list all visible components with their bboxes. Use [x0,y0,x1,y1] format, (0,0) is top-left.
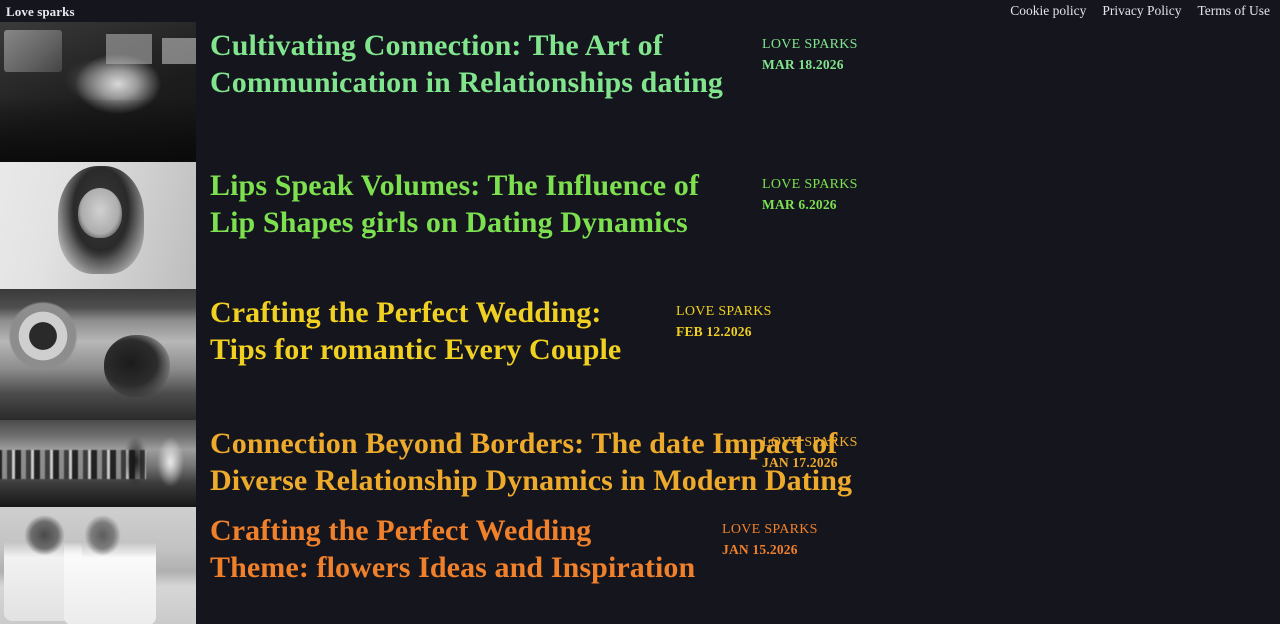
post-date: MAR 6.2026 [762,195,858,215]
post-category[interactable]: LOVE SPARKS [762,174,858,195]
post-item[interactable]: Crafting the Perfect Wedding Theme: flow… [0,507,1280,624]
post-item[interactable]: Lips Speak Volumes: The Influence of Lip… [0,162,1280,289]
post-date: FEB 12.2026 [676,322,772,342]
nav-link-cookie-policy[interactable]: Cookie policy [1010,4,1086,18]
post-list: Cultivating Connection: The Art of Commu… [0,22,1280,624]
post-thumbnail-link[interactable] [0,507,196,624]
nav-link-terms-of-use[interactable]: Terms of Use [1197,4,1270,18]
post-category[interactable]: LOVE SPARKS [676,301,772,322]
post-date: JAN 17.2026 [762,453,858,473]
post-meta: LOVE SPARKS MAR 18.2026 [762,28,858,75]
post-category[interactable]: LOVE SPARKS [722,519,818,540]
post-meta: LOVE SPARKS JAN 17.2026 [762,426,858,473]
post-thumbnail-link[interactable] [0,289,196,420]
post-thumbnail-link[interactable] [0,420,196,507]
post-thumbnail-4 [0,507,196,624]
post-title[interactable]: Lips Speak Volumes: The Influence of Lip… [210,168,730,241]
post-body: Crafting the Perfect Wedding: Tips for r… [196,289,1280,368]
site-header: Love sparks Cookie policy Privacy Policy… [0,0,1280,22]
post-meta: LOVE SPARKS MAR 6.2026 [762,168,858,215]
post-thumbnail-2 [0,289,196,420]
post-thumbnail-0 [0,22,196,162]
post-meta: LOVE SPARKS FEB 12.2026 [676,295,772,342]
post-body: Connection Beyond Borders: The date Impa… [196,420,1280,499]
post-thumbnail-3 [0,420,196,507]
post-body: Crafting the Perfect Wedding Theme: flow… [196,507,1280,586]
post-item[interactable]: Crafting the Perfect Wedding: Tips for r… [0,289,1280,420]
post-thumbnail-link[interactable] [0,22,196,162]
post-title[interactable]: Crafting the Perfect Wedding Theme: flow… [210,513,730,586]
nav-link-privacy-policy[interactable]: Privacy Policy [1102,4,1181,18]
post-category[interactable]: LOVE SPARKS [762,34,858,55]
post-meta: LOVE SPARKS JAN 15.2026 [722,513,818,560]
post-body: Lips Speak Volumes: The Influence of Lip… [196,162,1280,241]
post-item[interactable]: Connection Beyond Borders: The date Impa… [0,420,1280,507]
post-category[interactable]: LOVE SPARKS [762,432,858,453]
post-title[interactable]: Cultivating Connection: The Art of Commu… [210,28,770,101]
primary-nav: Cookie policy Privacy Policy Terms of Us… [1010,4,1274,18]
post-item[interactable]: Cultivating Connection: The Art of Commu… [0,22,1280,162]
post-date: MAR 18.2026 [762,55,858,75]
post-title[interactable]: Crafting the Perfect Wedding: Tips for r… [210,295,660,368]
post-body: Cultivating Connection: The Art of Commu… [196,22,1280,101]
post-date: JAN 15.2026 [722,540,818,560]
post-thumbnail-link[interactable] [0,162,196,289]
post-thumbnail-1 [0,162,196,289]
site-logo[interactable]: Love sparks [6,5,75,18]
